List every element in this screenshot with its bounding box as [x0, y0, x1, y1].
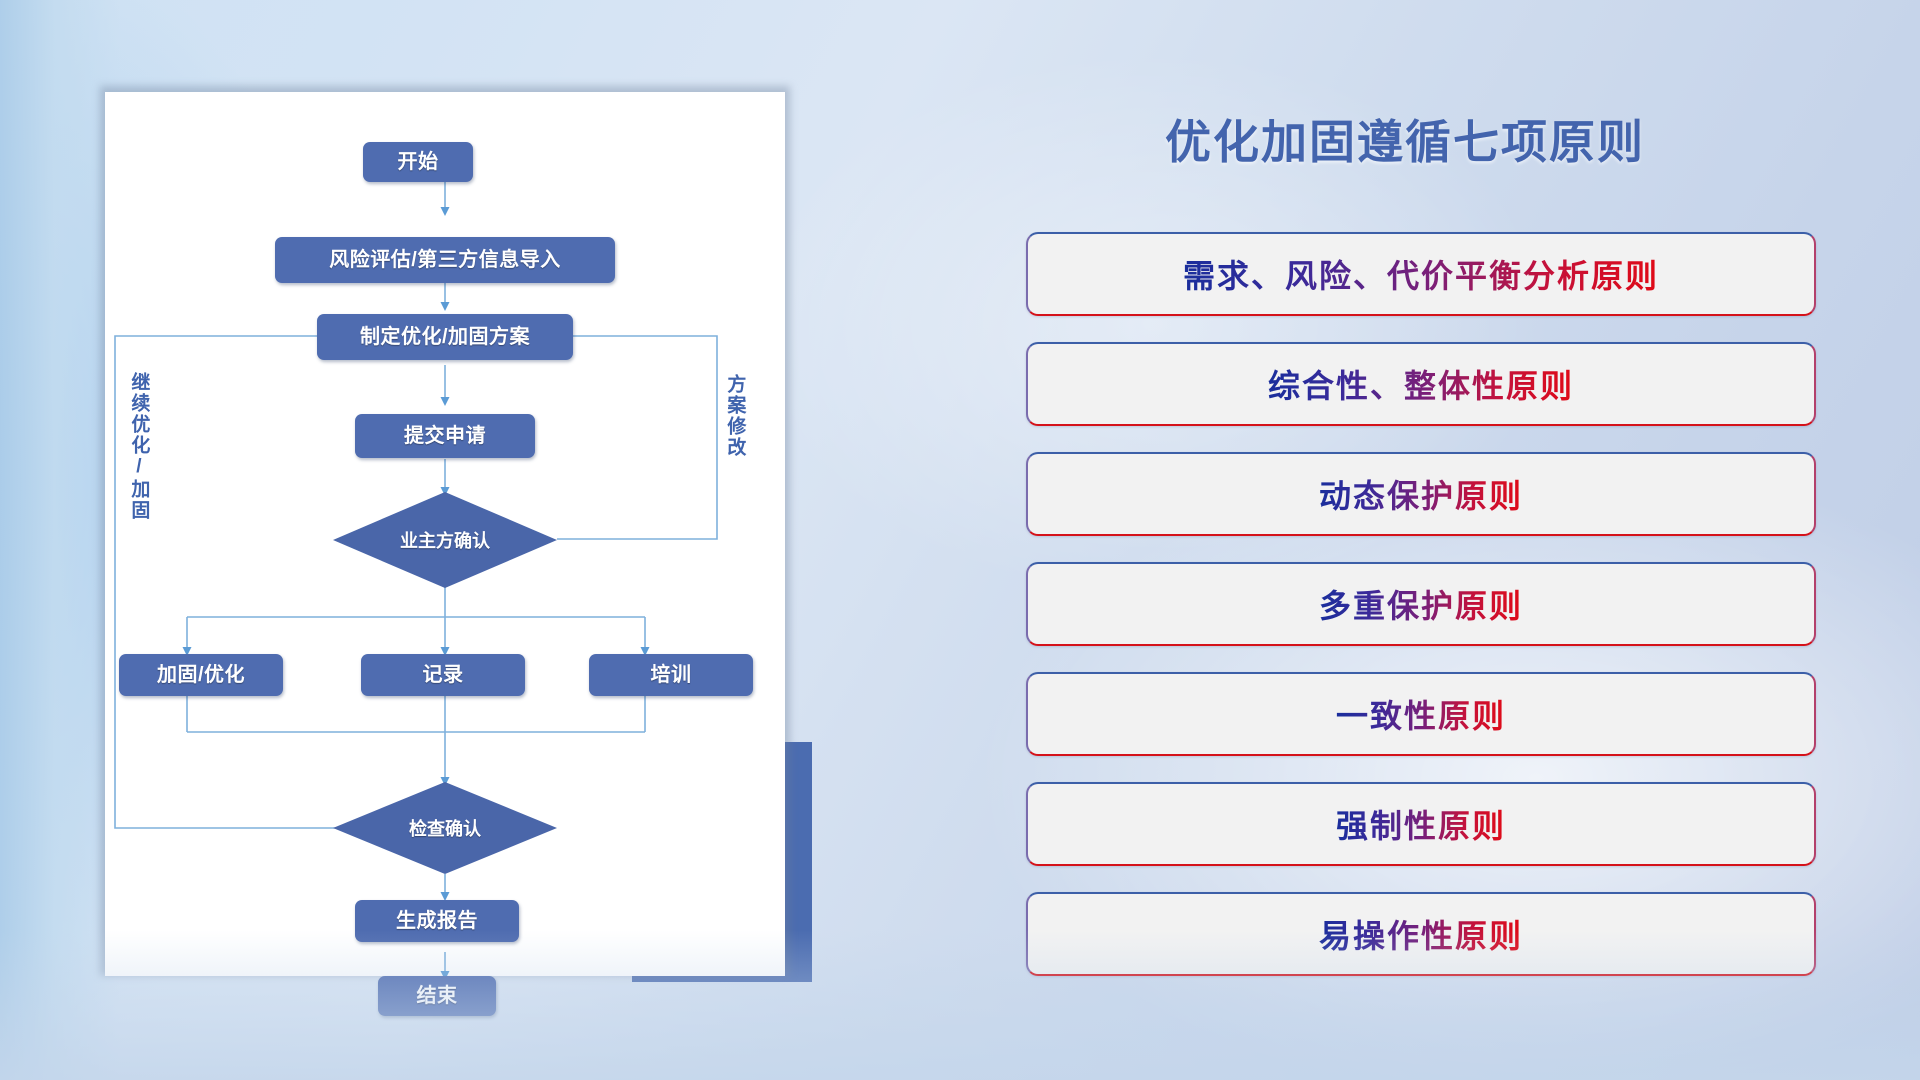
flowchart-region: 开始 风险评估/第三方信息导入 制定优化/加固方案 提交申请 业主方确认 加固/…: [0, 0, 860, 1080]
flow-node-record[interactable]: 记录: [361, 654, 525, 696]
principle-label: 强制性原则: [1336, 801, 1506, 847]
principle-label: 需求、风险、代价平衡分析原则: [1183, 251, 1659, 297]
flow-node-reinforce-optimize[interactable]: 加固/优化: [119, 654, 283, 696]
flow-node-plan[interactable]: 制定优化/加固方案: [317, 314, 573, 360]
principles-list: 需求、风险、代价平衡分析原则 综合性、整体性原则 动态保护原则 多重保护原则 一…: [1026, 232, 1816, 1002]
principle-label: 一致性原则: [1336, 691, 1506, 737]
flow-node-start[interactable]: 开始: [363, 142, 473, 182]
principle-label: 易操作性原则: [1319, 911, 1523, 957]
principle-item-4[interactable]: 多重保护原则: [1026, 562, 1816, 646]
edge-label-continue-optimize: 继续优化/加固: [129, 372, 148, 521]
flow-node-submit-application[interactable]: 提交申请: [355, 414, 535, 458]
flow-node-training[interactable]: 培训: [589, 654, 753, 696]
principle-item-2[interactable]: 综合性、整体性原则: [1026, 342, 1816, 426]
edge-label-plan-revision: 方案修改: [725, 374, 744, 458]
principle-item-6[interactable]: 强制性原则: [1026, 782, 1816, 866]
principle-label: 多重保护原则: [1319, 581, 1523, 627]
principles-panel-title: 优化加固遵循七项原则: [1010, 106, 1800, 172]
flow-node-generate-report[interactable]: 生成报告: [355, 900, 519, 942]
principle-item-3[interactable]: 动态保护原则: [1026, 452, 1816, 536]
slide-canvas: 开始 风险评估/第三方信息导入 制定优化/加固方案 提交申请 业主方确认 加固/…: [0, 0, 1920, 1080]
flow-node-risk-assessment[interactable]: 风险评估/第三方信息导入: [275, 237, 615, 283]
principle-item-7[interactable]: 易操作性原则: [1026, 892, 1816, 976]
principle-item-5[interactable]: 一致性原则: [1026, 672, 1816, 756]
flowchart-card: 开始 风险评估/第三方信息导入 制定优化/加固方案 提交申请 业主方确认 加固/…: [105, 92, 785, 976]
flow-node-end[interactable]: 结束: [378, 976, 496, 1016]
principle-item-1[interactable]: 需求、风险、代价平衡分析原则: [1026, 232, 1816, 316]
principle-label: 综合性、整体性原则: [1268, 361, 1574, 407]
principles-region: 优化加固遵循七项原则 需求、风险、代价平衡分析原则 综合性、整体性原则 动态保护…: [1010, 0, 1920, 1080]
principle-label: 动态保护原则: [1319, 471, 1523, 517]
